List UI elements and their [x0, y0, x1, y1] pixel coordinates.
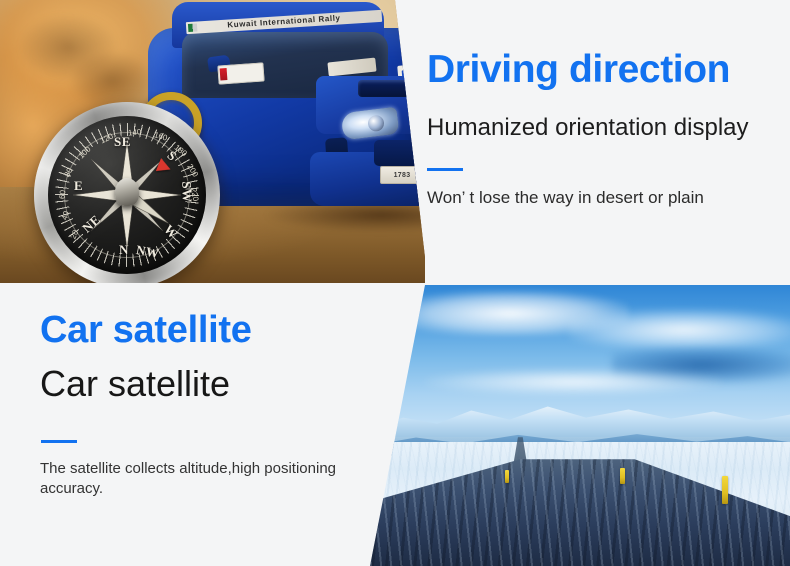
cloud-wisp — [425, 369, 723, 394]
car-satellite-divider — [41, 440, 77, 443]
compass-hub — [115, 178, 139, 206]
marker-post — [722, 476, 728, 504]
banner-flag-icon — [188, 23, 197, 32]
car-satellite-description: The satellite collects altitude,high pos… — [40, 459, 385, 499]
car-satellite-text-panel: Car satellite Car satellite The satellit… — [0, 285, 420, 566]
promo-page: Kuwait International Rally 1783 — [0, 0, 790, 566]
driving-direction-text-panel: Driving direction Humanized orientation … — [425, 0, 790, 283]
car-satellite-title: Car satellite — [40, 309, 252, 352]
marker-post — [505, 470, 509, 483]
car-license-plate: 1783 — [380, 166, 424, 184]
section-driving-direction: Kuwait International Rally 1783 — [0, 0, 790, 283]
section-car-satellite: Car satellite Car satellite The satellit… — [0, 285, 790, 566]
compass-letter-e: E — [74, 178, 83, 194]
driving-direction-title: Driving direction — [427, 48, 730, 92]
driving-direction-description: Won’ t lose the way in desert or plain — [427, 186, 704, 210]
cloud-upper-right — [569, 310, 790, 349]
compass-degree-60: 60 — [58, 190, 68, 200]
car-hood-scoop — [358, 80, 418, 97]
license-plate-text: 1783 — [381, 167, 423, 184]
car-satellite-subtitle: Car satellite — [40, 362, 230, 406]
car-sticker-door — [217, 62, 264, 84]
compass-face: N NE E SE S SW W NW 20 40 60 80 100 120 … — [48, 116, 206, 274]
compass-letter-n: N — [119, 242, 129, 258]
compass-degree-140: 140 — [128, 127, 142, 137]
compass-icon: N NE E SE S SW W NW 20 40 60 80 100 120 … — [28, 92, 226, 283]
driving-direction-divider — [427, 168, 463, 171]
car-grille — [374, 140, 432, 166]
snow-road-photo — [365, 285, 790, 566]
driving-direction-subtitle: Humanized orientation display — [427, 113, 749, 143]
marker-post — [620, 468, 625, 484]
rally-car-compass-photo: Kuwait International Rally 1783 — [0, 0, 432, 283]
